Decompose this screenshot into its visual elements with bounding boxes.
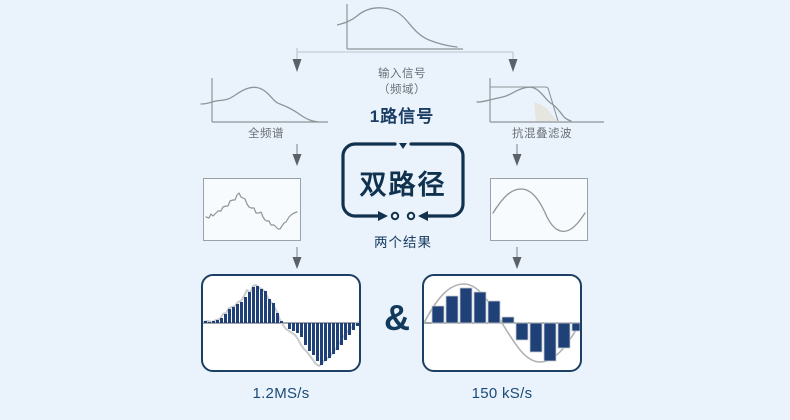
full-spectrum-chart (200, 76, 332, 128)
two-results-subtitle: 两个结果 (336, 231, 470, 251)
ampersand-symbol: & (377, 300, 417, 336)
high-rate-sampled-waveform-panel (201, 274, 361, 372)
input-signal-caption-line1: 输入信号 (347, 66, 457, 82)
anti-alias-filter-chart (476, 76, 608, 128)
smooth-sine-waveform-box (490, 178, 588, 241)
low-rate-sampled-waveform-panel (422, 274, 582, 372)
dual-path-title: 双路径 (340, 163, 466, 202)
anti-alias-filter-caption: 抗混叠滤波 (482, 127, 602, 142)
right-rate-label: 150 kS/s (432, 385, 572, 402)
noisy-time-waveform-box (203, 178, 301, 241)
arrow-down-left-upper (290, 144, 304, 168)
left-rate-label: 1.2MS/s (211, 385, 351, 402)
arrow-down-right-upper (510, 144, 524, 168)
low-rate-bars (424, 276, 580, 370)
arrow-down-left-lower (290, 247, 304, 271)
full-spectrum-caption: 全频谱 (206, 127, 326, 142)
high-rate-bars (203, 276, 359, 370)
arrow-down-right-lower (510, 247, 524, 271)
one-channel-headline: 1路信号 (337, 102, 467, 127)
diagram-canvas: 输入信号 （频域） 1路信号 全频谱 (0, 0, 790, 420)
input-signal-caption-line2: （频域） (347, 82, 457, 98)
